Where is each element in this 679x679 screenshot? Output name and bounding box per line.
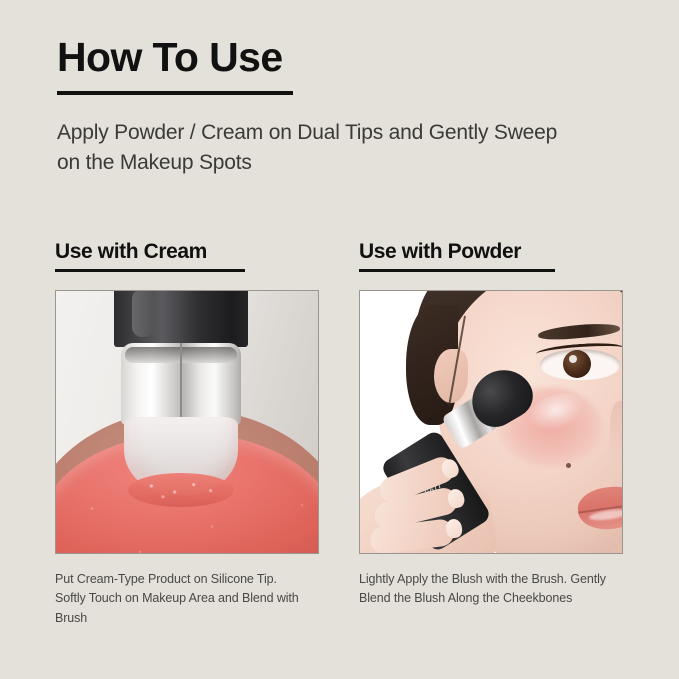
column-heading-underline-cream [55,269,245,272]
collar-seam-line [180,343,182,425]
page-title: How To Use [57,36,617,79]
page-subtitle: Apply Powder / Cream on Dual Tips and Ge… [57,118,577,179]
how-to-use-page: How To Use Apply Powder / Cream on Dual … [0,0,679,679]
silicone-tip-cream-residue [128,473,234,507]
cream-scene [56,291,318,553]
caption-cream: Put Cream-Type Product on Silicone Tip. … [55,570,307,628]
column-heading-underline-powder [359,269,555,272]
column-heading-cream: Use with Cream [55,240,207,264]
photo-powder-application: Studio77 [359,290,623,554]
silicone-tip [124,417,238,495]
barrel-highlight [132,290,154,337]
model-beauty-mark [566,463,571,468]
product-black-barrel [114,290,248,347]
usage-column-powder: Use with Powder [359,240,623,628]
product-silver-collar [121,343,241,425]
column-heading-powder: Use with Powder [359,240,521,264]
model-scene: Studio77 [360,291,622,553]
usage-columns: Use with Cream [0,240,679,628]
model-nose-shadow [610,401,623,461]
title-block: How To Use [57,36,617,95]
caption-powder: Lightly Apply the Blush with the Brush. … [359,570,611,609]
usage-column-cream: Use with Cream [55,240,319,628]
photo-cream-application [55,290,319,554]
title-underline [57,91,293,95]
